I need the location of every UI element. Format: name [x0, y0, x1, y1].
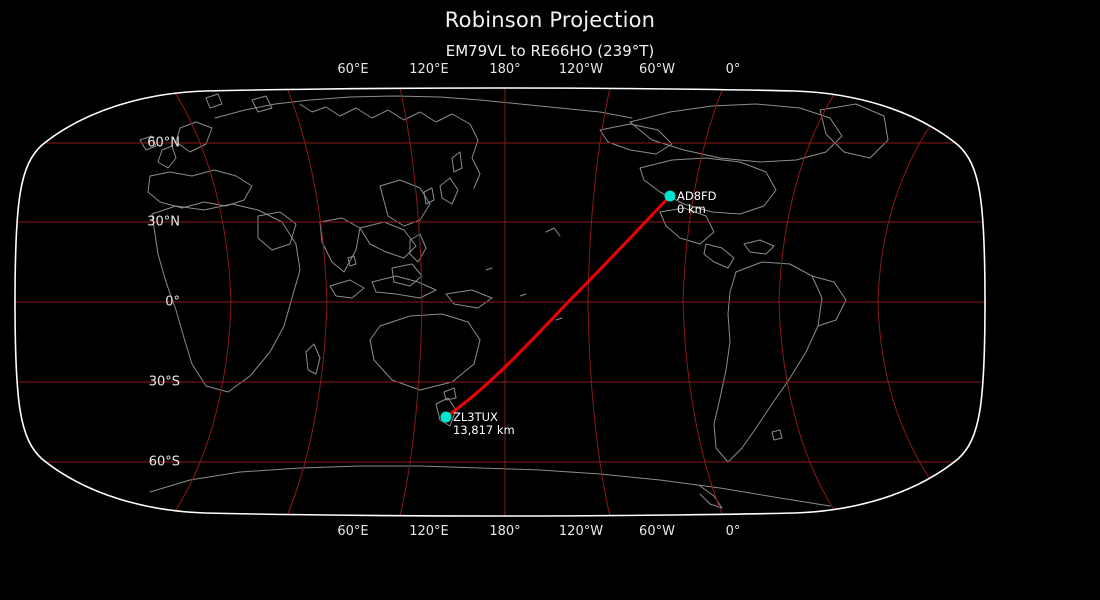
lon-tick-top-60W: 60°W	[639, 62, 675, 77]
station-distance-ad8fd: 0 km	[677, 203, 717, 216]
station-marker-ad8fd[interactable]	[665, 191, 676, 202]
lon-tick-bottom-180: 180°	[489, 524, 520, 539]
lat-tick-60N: 60°N	[110, 136, 180, 151]
lat-tick-0: 0°	[110, 295, 180, 310]
lon-tick-bottom-120W: 120°W	[559, 524, 603, 539]
lon-tick-top-120E: 120°E	[409, 62, 449, 77]
station-distance-zl3tux: 13,817 km	[453, 424, 515, 437]
lon-tick-top-180: 180°	[489, 62, 520, 77]
lon-tick-top-120W: 120°W	[559, 62, 603, 77]
lat-tick-60S: 60°S	[110, 455, 180, 470]
station-label-ad8fd: AD8FD 0 km	[677, 190, 717, 216]
lon-tick-top-60E: 60°E	[337, 62, 368, 77]
lon-tick-bottom-0: 0°	[726, 524, 741, 539]
station-marker-zl3tux[interactable]	[441, 412, 452, 423]
lat-tick-30S: 30°S	[110, 375, 180, 390]
lon-tick-top-0: 0°	[726, 62, 741, 77]
lon-tick-bottom-60W: 60°W	[639, 524, 675, 539]
figure-canvas: Robinson Projection EM79VL to RE66HO (23…	[0, 0, 1100, 600]
lon-tick-bottom-60E: 60°E	[337, 524, 368, 539]
lon-tick-bottom-120E: 120°E	[409, 524, 449, 539]
station-label-zl3tux: ZL3TUX 13,817 km	[453, 411, 515, 437]
lat-tick-30N: 30°N	[110, 215, 180, 230]
